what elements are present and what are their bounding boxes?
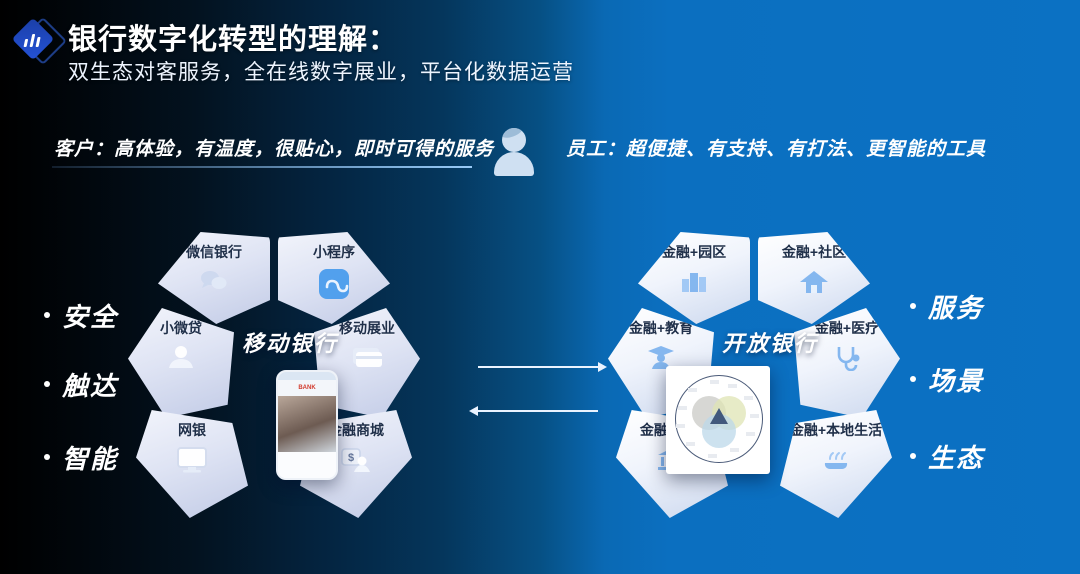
- chat-bubbles-icon: [199, 269, 229, 291]
- petal-finance-medical[interactable]: 金融+医疗: [794, 308, 900, 418]
- arrow-left-to-right-icon: [478, 366, 598, 368]
- petal-label: 金融+园区: [662, 244, 726, 261]
- petal-micro-loan[interactable]: 小微贷: [128, 308, 234, 418]
- right-keyword-label: 场景: [928, 366, 984, 396]
- open-bank-cluster: 金融+园区 金融+社区 金融+教育 金融+医疗 金融+政府: [620, 232, 920, 532]
- petal-label: 网银: [178, 422, 206, 439]
- slide-canvas: 银行数字化转型的理解： 双生态对客服务，全在线数字展业，平台化数据运营 客户：高…: [0, 0, 1080, 574]
- page-title: 银行数字化转型的理解：: [68, 16, 398, 58]
- petal-label: 金融+本地生活: [790, 422, 882, 439]
- bullet-dot-icon: [44, 312, 50, 318]
- employee-statement: 员工：超便捷、有支持、有打法、更智能的工具: [566, 134, 986, 161]
- left-cluster-center-title: 移动银行: [140, 326, 440, 358]
- bullet-dot-icon: [44, 454, 50, 460]
- petal-label: 小程序: [313, 244, 355, 261]
- left-keyword-label: 安全: [62, 302, 118, 332]
- petal-wechat-bank[interactable]: 微信银行: [158, 232, 270, 324]
- monitor-icon: [176, 447, 208, 473]
- bullet-dot-icon: [44, 381, 50, 387]
- petal-finance-local-life[interactable]: 金融+本地生活: [780, 410, 892, 518]
- money-shop-icon: $: [341, 447, 371, 473]
- left-keyword-label: 触达: [62, 371, 118, 401]
- venn-ecosystem-diagram: [666, 366, 770, 474]
- right-keyword-label: 生态: [928, 443, 984, 473]
- diamond-chart-logo-icon: [12, 18, 56, 62]
- right-keyword-2: 生态: [910, 438, 984, 475]
- mobile-phone-app-mockup: BANK: [276, 370, 338, 480]
- left-keyword-2: 智能: [44, 439, 118, 476]
- customer-statement: 客户：高体验，有温度，很贴心，即时可得的服务: [54, 134, 494, 161]
- right-keyword-0: 服务: [910, 288, 984, 325]
- petal-finance-park[interactable]: 金融+园区: [638, 232, 750, 324]
- petal-finance-community[interactable]: 金融+社区: [758, 232, 870, 324]
- svg-text:$: $: [348, 452, 354, 464]
- page-subtitle: 双生态对客服务，全在线数字展业，平台化数据运营: [68, 56, 574, 86]
- house-icon: [799, 269, 829, 295]
- petal-label: 金融+社区: [782, 244, 846, 261]
- right-keyword-1: 场景: [910, 361, 984, 398]
- petal-label: 微信银行: [186, 244, 242, 261]
- petal-mini-program[interactable]: 小程序: [278, 232, 390, 324]
- right-keyword-label: 服务: [928, 293, 984, 323]
- right-cluster-center-title: 开放银行: [620, 326, 920, 358]
- left-keyword-1: 触达: [44, 366, 118, 403]
- local-life-icon: [821, 447, 851, 471]
- buildings-icon: [679, 269, 709, 293]
- user-avatar-icon: [492, 128, 536, 176]
- arrow-right-to-left-icon: [478, 410, 598, 412]
- petal-online-bank[interactable]: 网银: [136, 410, 248, 518]
- left-keyword-label: 智能: [62, 444, 118, 474]
- bidirectional-arrows: [470, 358, 610, 420]
- mini-program-icon: [319, 269, 349, 299]
- customer-underline: [52, 166, 472, 168]
- left-keyword-0: 安全: [44, 297, 118, 334]
